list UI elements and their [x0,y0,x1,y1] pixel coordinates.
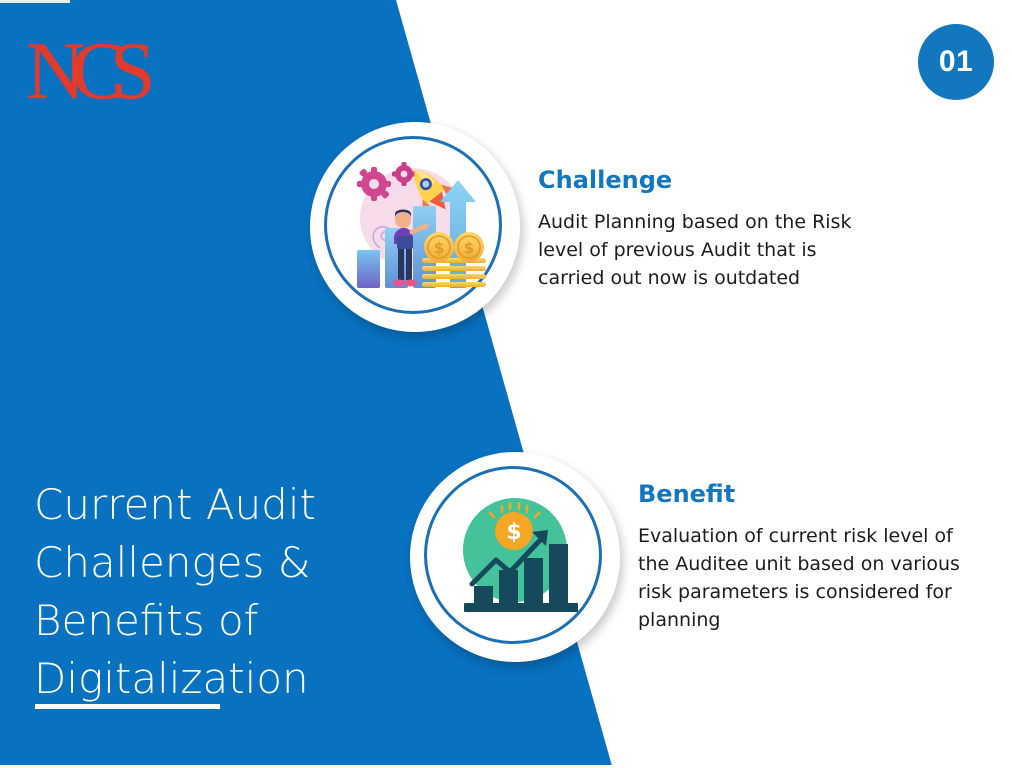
svg-text:$: $ [464,239,474,257]
page-title: Current Audit Challenges & Benefits of D… [34,476,384,708]
bar-chart-growth-dollar-icon: $ [440,482,590,632]
svg-text:$: $ [434,239,444,257]
logo-letter-n: N [26,25,75,116]
title-underline-rule [35,704,220,709]
circle-outer-ring: $ [410,452,620,662]
logo-letter-s: S [110,25,146,116]
top-left-edge-strip [0,0,70,3]
challenge-heading: Challenge [538,166,888,194]
challenge-illustration-circle: $ $ [310,122,520,332]
slide-number-label: 01 [939,45,973,79]
benefit-heading: Benefit [638,480,983,508]
challenge-body: Audit Planning based on the Risk level o… [538,208,888,292]
growth-rocket-coins-illustration: $ $ [340,152,490,302]
slide-canvas: NCS 01 [0,0,1012,768]
svg-text:$: $ [506,520,521,545]
benefit-body: Evaluation of current risk level of the … [638,522,983,634]
benefit-text-block: Benefit Evaluation of current risk level… [638,480,983,634]
benefit-illustration-circle: $ [410,452,620,662]
slide-number-badge: 01 [918,24,994,100]
ncs-logo: NCS [26,30,146,112]
circle-outer-ring: $ $ [310,122,520,332]
challenge-text-block: Challenge Audit Planning based on the Ri… [538,166,888,292]
